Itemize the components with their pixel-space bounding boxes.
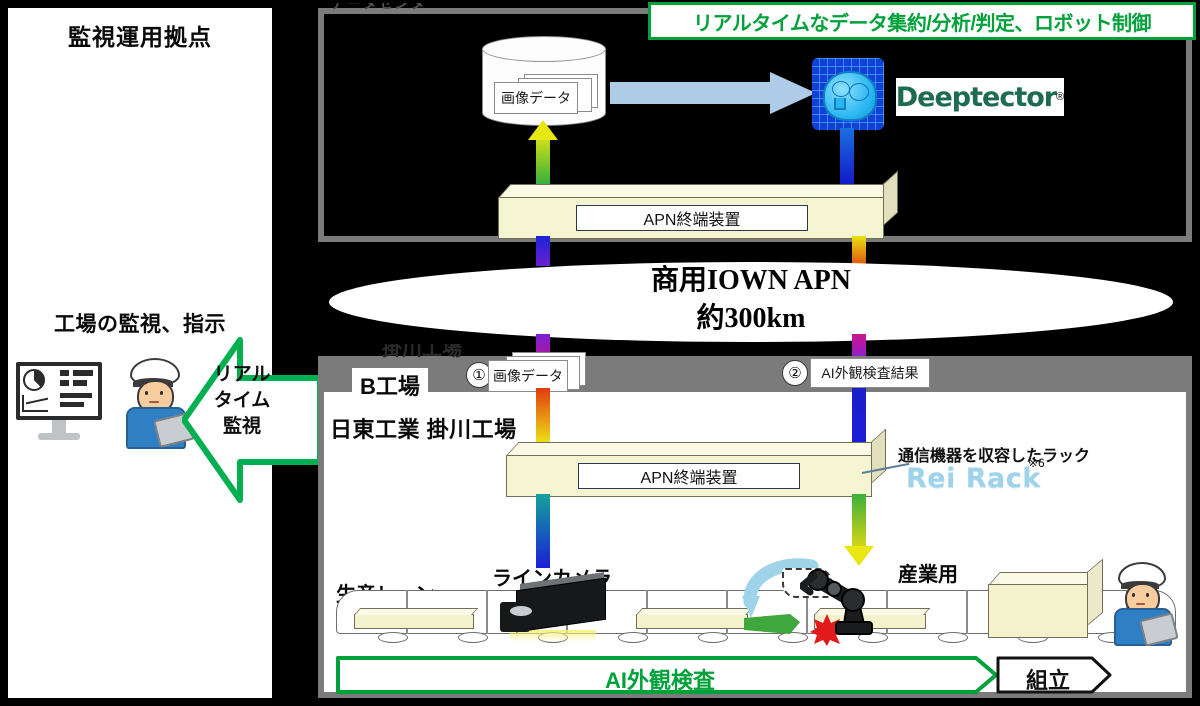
- connector-camera-uplink: [536, 494, 550, 568]
- realtime-monitoring-label: リアル タイム 監視: [196, 362, 288, 440]
- iown-apn-distance: 約300km: [322, 300, 1180, 338]
- rei-rack-logo: Rei Rack: [906, 463, 1041, 494]
- apn-terminal-bottom-label: APN終端装置: [578, 463, 800, 489]
- deeptector-logo: Deeptector ®: [896, 78, 1064, 116]
- line-camera-icon: [498, 570, 610, 642]
- connector-flow2-down: [852, 388, 866, 444]
- pallet-1: [354, 614, 474, 629]
- iown-apn-label: 商用IOWN APN 約300km: [322, 262, 1180, 338]
- deeptector-registered-mark: ®: [1056, 91, 1064, 103]
- iown-apn-title: 商用IOWN APN: [322, 262, 1180, 300]
- industrial-robot-icon: [800, 558, 886, 640]
- deeptector-logo-text: Deeptector: [896, 82, 1056, 113]
- finished-product-box: [988, 572, 1104, 638]
- flow-number-2: ②: [782, 360, 808, 386]
- connector-chip-downlink: [840, 128, 854, 186]
- process-assembly-label: 組立: [996, 663, 1100, 695]
- image-data-label-top: 画像データ: [494, 82, 578, 114]
- factory-name: 日東工業 掛川工場: [330, 412, 517, 444]
- arrow-label-line3: 監視: [196, 414, 288, 440]
- arrow-label-line1: リアル: [196, 362, 288, 388]
- page-title: 監視運用拠点: [8, 18, 272, 52]
- factory-title-clipped: 掛川工場: [382, 344, 512, 359]
- apn-terminal-bottom: APN終端装置: [506, 442, 886, 498]
- data-transfer-arrow: [610, 72, 816, 114]
- rack-footnote: ※6: [1028, 456, 1045, 470]
- assembly-worker-icon: [1106, 562, 1178, 642]
- connector-flow1-down: [536, 388, 550, 444]
- connector-db-uplink-head: [528, 120, 558, 140]
- process-inspection-label: AI外観検査: [336, 663, 984, 695]
- reject-chute-icon: [744, 614, 800, 636]
- datacenter-title-text: データセンタ: [330, 3, 630, 13]
- datacenter-title-clipped: データセンタ: [330, 3, 630, 17]
- connector-robot-downlink: [852, 494, 866, 548]
- operator-worker-icon: [116, 358, 190, 446]
- apn-terminal-top-label: APN終端装置: [576, 205, 808, 231]
- dashboard-monitor-icon: [16, 362, 102, 446]
- industrial-robot-label-line1: 産業用: [898, 562, 978, 588]
- factory-tag: B工場: [352, 368, 428, 402]
- pallet-2: [636, 614, 748, 629]
- flow1-label: 画像データ: [488, 360, 568, 392]
- ai-brain-chip-icon: [812, 58, 884, 130]
- apn-terminal-top: APN終端装置: [498, 184, 898, 240]
- factory-title-text: 掛川工場: [382, 344, 512, 359]
- flow2-label: AI外観検査結果: [810, 358, 930, 388]
- realtime-analysis-banner: リアルタイムなデータ集約/分析/判定、ロボット制御: [648, 2, 1196, 40]
- arrow-label-line2: タイム: [196, 388, 288, 414]
- realtime-analysis-banner-text: リアルタイムなデータ集約/分析/判定、ロボット制御: [693, 7, 1151, 36]
